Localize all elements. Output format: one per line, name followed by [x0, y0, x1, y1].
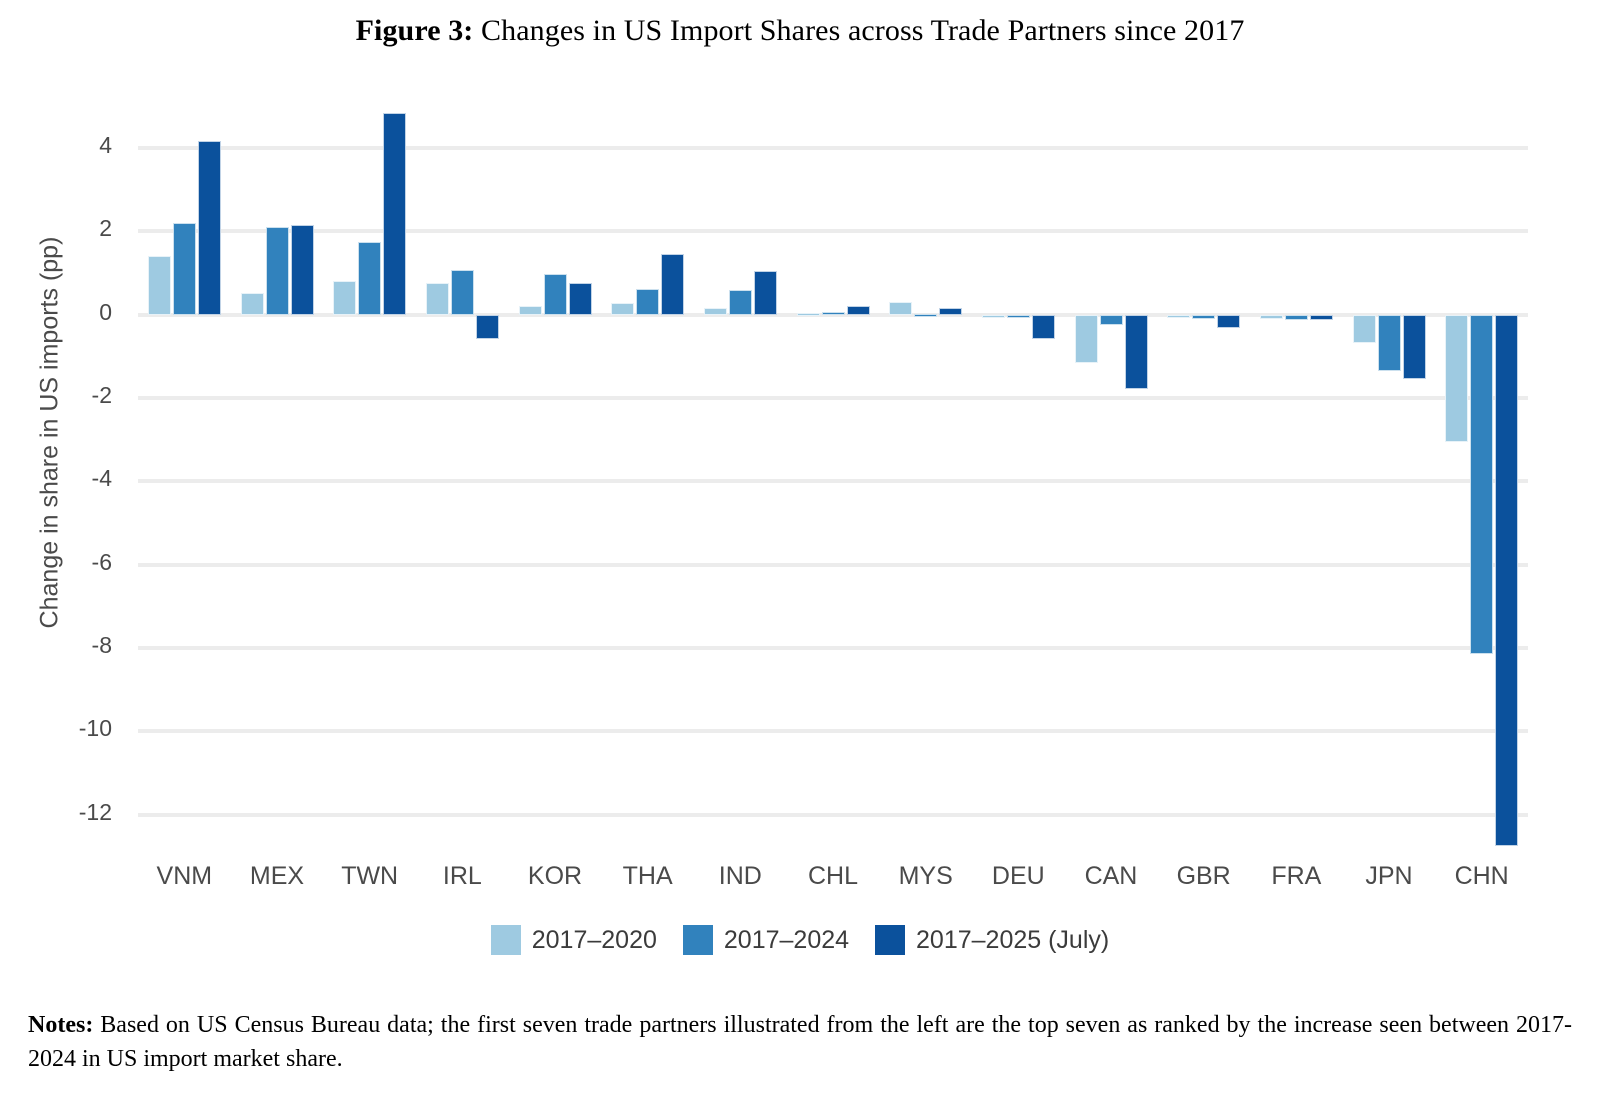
legend-label: 2017–2024 [724, 926, 849, 955]
bar-group-vnm [148, 98, 221, 848]
bar-group-tha [611, 98, 684, 848]
bar [333, 281, 356, 314]
figure-title: Figure 3: Changes in US Import Shares ac… [0, 14, 1600, 48]
bar [1167, 315, 1190, 318]
bar-group-irl [426, 98, 499, 848]
legend-swatch-icon [683, 925, 713, 955]
bar [822, 312, 845, 315]
y-axis-tick-label: -10 [0, 715, 126, 742]
plot-region [138, 98, 1528, 848]
bar-group-kor [519, 98, 592, 848]
bar [889, 302, 912, 315]
chart-legend: 2017–20202017–20242017–2025 (July) [0, 925, 1600, 955]
bar [1007, 315, 1030, 318]
bar [1403, 315, 1426, 380]
bar-group-gbr [1167, 98, 1240, 848]
legend-item-1[interactable]: 2017–2020 [491, 925, 657, 955]
bar [982, 315, 1005, 318]
bar [1353, 315, 1376, 343]
bar-group-mex [241, 98, 314, 848]
bar [241, 293, 264, 315]
chart-area: Change in share in US imports (pp) 420-2… [0, 78, 1600, 868]
x-axis-label-vnm: VNM [138, 862, 231, 891]
bar-group-fra [1260, 98, 1333, 848]
y-axis-tick-label: -8 [0, 632, 126, 659]
y-axis-tick-label: -2 [0, 382, 126, 409]
x-axis-label-can: CAN [1065, 862, 1158, 891]
notes-text: Based on US Census Bureau data; the firs… [28, 1012, 1572, 1072]
bar [914, 314, 937, 317]
y-axis-tick-label: -12 [0, 799, 126, 826]
bar [1125, 315, 1148, 389]
bar [519, 306, 542, 315]
bar [1260, 315, 1283, 319]
x-axis-label-ind: IND [694, 862, 787, 891]
bar [1217, 315, 1240, 329]
bar [173, 223, 196, 315]
bar-group-deu [982, 98, 1055, 848]
x-axis-label-kor: KOR [509, 862, 602, 891]
x-axis-label-fra: FRA [1250, 862, 1343, 891]
x-axis-label-mys: MYS [879, 862, 972, 891]
bar [1100, 315, 1123, 325]
bar-group-ind [704, 98, 777, 848]
figure-number-label: Figure 3: [356, 14, 474, 47]
legend-item-3[interactable]: 2017–2025 (July) [875, 925, 1109, 955]
bar [1075, 315, 1098, 363]
x-axis-label-tha: THA [601, 862, 694, 891]
y-axis-tick-label: 2 [0, 215, 126, 242]
bar [704, 308, 727, 314]
bar [426, 283, 449, 314]
bar [754, 271, 777, 315]
bar [1378, 315, 1401, 371]
legend-item-2[interactable]: 2017–2024 [683, 925, 849, 955]
x-axis-label-deu: DEU [972, 862, 1065, 891]
bar [198, 141, 221, 315]
x-axis-label-twn: TWN [323, 862, 416, 891]
bar-group-can [1075, 98, 1148, 848]
bar-group-chn [1445, 98, 1518, 848]
bar [939, 308, 962, 314]
x-axis-label-irl: IRL [416, 862, 509, 891]
x-axis-category-labels: VNMMEXTWNIRLKORTHAINDCHLMYSDEUCANGBRFRAJ… [138, 862, 1528, 896]
bar [661, 254, 684, 314]
figure-notes: Notes: Based on US Census Bureau data; t… [28, 1008, 1572, 1076]
bar [476, 315, 499, 339]
bar-group-mys [889, 98, 962, 848]
bar [383, 113, 406, 315]
y-axis-tick-label: 0 [0, 299, 126, 326]
bar [358, 242, 381, 315]
bar [1192, 315, 1215, 319]
y-axis-tick-label: 4 [0, 132, 126, 159]
legend-label: 2017–2025 (July) [916, 926, 1109, 955]
legend-label: 2017–2020 [532, 926, 657, 955]
bar [544, 274, 567, 314]
bar [611, 303, 634, 315]
bar [847, 306, 870, 314]
bar [451, 270, 474, 315]
bar [1495, 315, 1518, 846]
bar [729, 290, 752, 315]
y-axis-tick-labels: 420-2-4-6-8-10-12 [0, 98, 126, 848]
x-axis-label-chn: CHN [1435, 862, 1528, 891]
bar [1285, 315, 1308, 320]
x-axis-label-chl: CHL [787, 862, 880, 891]
bar [1032, 315, 1055, 339]
bar [1310, 315, 1333, 320]
bar-group-jpn [1353, 98, 1426, 848]
legend-swatch-icon [491, 925, 521, 955]
y-axis-tick-label: -4 [0, 465, 126, 492]
bar [797, 313, 820, 316]
bar [266, 227, 289, 315]
bar [636, 289, 659, 315]
x-axis-label-jpn: JPN [1343, 862, 1436, 891]
bar [569, 283, 592, 315]
bar [148, 256, 171, 315]
y-axis-tick-label: -6 [0, 549, 126, 576]
x-axis-label-gbr: GBR [1157, 862, 1250, 891]
bar [1445, 315, 1468, 442]
notes-label: Notes: [28, 1012, 93, 1038]
legend-swatch-icon [875, 925, 905, 955]
bar-group-twn [333, 98, 406, 848]
bar [1470, 315, 1493, 655]
bar [291, 225, 314, 315]
x-axis-label-mex: MEX [231, 862, 324, 891]
bar-group-chl [797, 98, 870, 848]
figure-title-text: Changes in US Import Shares across Trade… [481, 14, 1244, 47]
